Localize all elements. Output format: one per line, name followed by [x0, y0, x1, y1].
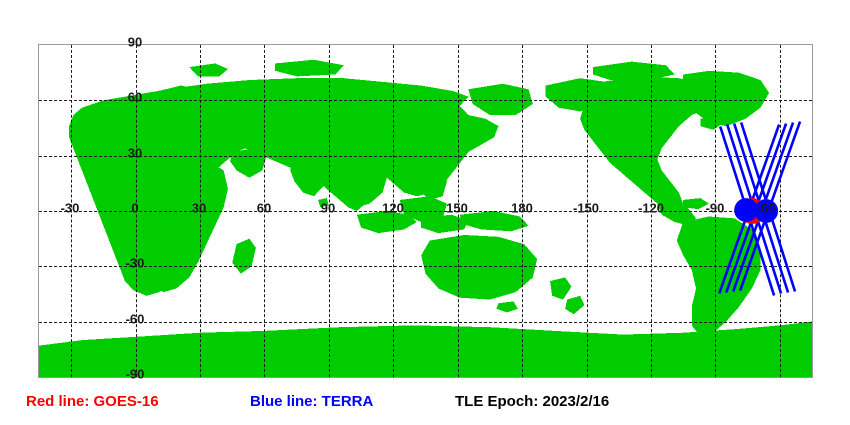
lat-tick-label: -90	[126, 368, 145, 381]
lon-tick-label: 120	[382, 202, 404, 215]
lat-tick-label: 60	[128, 91, 142, 104]
lat-tick-label: -30	[126, 257, 145, 270]
legend-terra: Blue line: TERRA	[250, 392, 373, 412]
lon-tick-label: -60	[757, 202, 776, 215]
lon-tick-label: 60	[257, 202, 271, 215]
lon-tick-label: 90	[321, 202, 335, 215]
lat-tick-label: 90	[128, 36, 142, 49]
satellite-ground-track-map: -30 0 30 60 90 120 150 180 -150 -120 -90…	[0, 0, 850, 425]
legend-goes16: Red line: GOES-16	[26, 392, 159, 412]
legend: Red line: GOES-16 Blue line: TERRA TLE E…	[0, 392, 850, 422]
lat-tick-label: 0	[131, 202, 138, 215]
lon-tick-label: 30	[192, 202, 206, 215]
world-map	[38, 44, 813, 378]
lat-tick-label: 30	[128, 147, 142, 160]
lon-tick-label: -150	[573, 202, 599, 215]
map-canvas	[39, 45, 812, 377]
lon-tick-label: 150	[446, 202, 468, 215]
lat-tick-label: -60	[126, 313, 145, 326]
legend-tle-epoch: TLE Epoch: 2023/2/16	[455, 392, 609, 412]
lon-tick-label: -90	[706, 202, 725, 215]
lon-tick-label: -120	[638, 202, 664, 215]
satellite-overlay	[39, 45, 812, 377]
lon-tick-label: 180	[511, 202, 533, 215]
lon-tick-label: -30	[61, 202, 80, 215]
